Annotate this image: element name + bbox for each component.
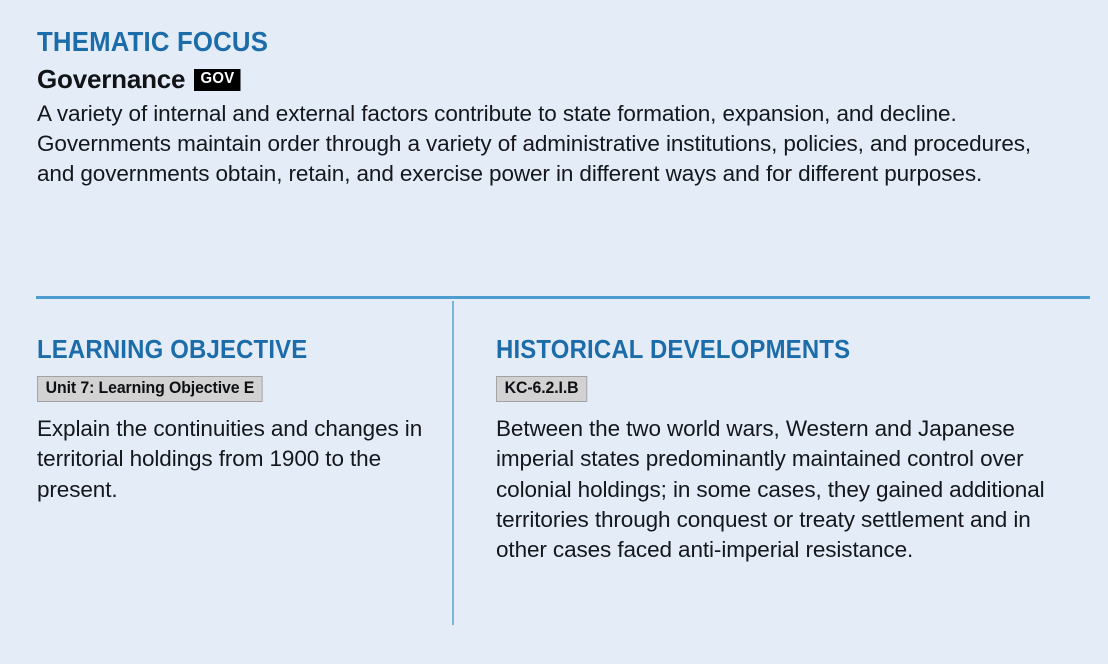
- course-framework-page: THEMATIC FOCUS Governance GOV A variety …: [0, 0, 1108, 664]
- thematic-focus-heading: THEMATIC FOCUS: [37, 28, 994, 56]
- learning-objective-heading: LEARNING OBJECTIVE: [37, 336, 396, 362]
- learning-objective-text: Explain the continuities and changes in …: [37, 414, 427, 504]
- horizontal-divider: [36, 296, 1090, 299]
- vertical-divider: [452, 301, 454, 625]
- thematic-focus-section: THEMATIC FOCUS Governance GOV A variety …: [37, 28, 1077, 189]
- historical-developments-text: Between the two world wars, Western and …: [496, 414, 1071, 565]
- historical-developments-heading: HISTORICAL DEVELOPMENTS: [496, 336, 1025, 362]
- governance-abbreviation-badge: GOV: [194, 69, 241, 91]
- historical-developments-badge: KC-6.2.I.B: [496, 376, 587, 402]
- learning-objective-badge: Unit 7: Learning Objective E: [37, 376, 263, 402]
- thematic-focus-title-row: Governance GOV: [37, 66, 1077, 92]
- learning-objective-section: LEARNING OBJECTIVE Unit 7: Learning Obje…: [37, 336, 427, 505]
- thematic-focus-description: A variety of internal and external facto…: [37, 99, 1067, 189]
- thematic-focus-title: Governance: [37, 66, 185, 92]
- historical-developments-section: HISTORICAL DEVELOPMENTS KC-6.2.I.B Betwe…: [496, 336, 1071, 565]
